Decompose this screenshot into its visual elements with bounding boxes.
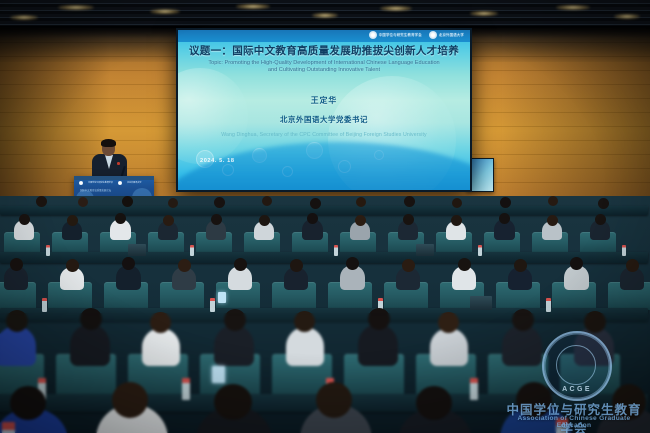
seal-emblem-icon [369,31,377,39]
acge-seal-icon: ACGE [542,331,612,401]
slide-speaker-role-english: Wang Dinghua, Secretary of the CPC Commi… [186,132,462,138]
slide-title-chinese: 议题一：国际中文教育高质量发展助推拔尖创新人才培养 [186,44,462,58]
slide-speaker-role: 北京外国语大学党委书记 [186,114,462,125]
logo-bfsu: 北京外国语大学 [429,31,464,39]
lectern-logo-label: 中国学位与研究生教育学会 [88,182,113,185]
watermark-logo: ACGE 中国学位与研究生教育学会 Association of Chinese… [504,329,644,429]
lectern-logo-label-2: 北京外国语大学 [127,182,142,185]
seal-emblem-icon [79,181,83,185]
slide-title-english-line2: and Cultivating Outstanding Innovative T… [186,67,462,74]
slide-date: 2024. 5. 18 [200,158,235,164]
seal-emblem-icon [118,181,122,185]
logo-acge-label: 中国学位与研究生教育学会 [379,33,422,37]
seal-inner-ring [556,345,596,385]
logo-bfsu-label: 北京外国语大学 [439,33,464,37]
projection-screen: 中国学位与研究生教育学会 北京外国语大学 议题一：国际中文教育高质量发展助推拔尖… [178,30,470,190]
slide-content: 议题一：国际中文教育高质量发展助推拔尖创新人才培养 Topic: Promoti… [178,44,470,138]
lectern-top-edge [74,176,154,180]
seal-abbreviation: ACGE [544,386,610,393]
slide-speaker-name: 王定华 [186,95,462,106]
conference-hall-photo: 中国学位与研究生教育学会 北京外国语大学 议题一：国际中文教育高质量发展助推拔尖… [0,0,650,433]
slide-logo-bar: 中国学位与研究生教育学会 北京外国语大学 [178,30,470,42]
lapel-badge-icon [117,162,120,165]
speaker-hair [101,139,116,147]
projection-screen-frame: 中国学位与研究生教育学会 北京外国语大学 议题一：国际中文教育高质量发展助推拔尖… [176,28,472,192]
lectern-subtitle: 国际中文教育高质量发展论坛 [80,188,111,192]
seal-emblem-icon [429,31,437,39]
watermark-name-english: Association of Chinese Graduate Educatio… [504,415,644,429]
logo-acge: 中国学位与研究生教育学会 [369,31,422,39]
